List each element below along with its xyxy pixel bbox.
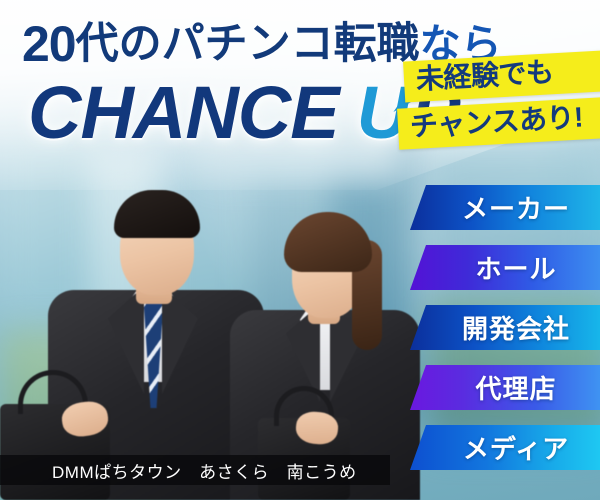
category-label: 開発会社: [462, 309, 570, 346]
category-label: 代理店: [475, 369, 556, 406]
category-button-maker[interactable]: メーカー: [410, 185, 600, 230]
badge-line-2: チャンスあり!: [397, 97, 600, 149]
category-button-agency[interactable]: 代理店: [410, 365, 600, 410]
hair: [114, 190, 200, 238]
category-button-media[interactable]: メディア: [410, 425, 600, 470]
badge-line-1-text: 未経験でも: [415, 56, 594, 94]
people-photo: [0, 155, 430, 500]
chance-up-logo: CHANCE U P: [28, 72, 459, 154]
category-label: メーカー: [462, 189, 570, 226]
category-label: メディア: [463, 429, 569, 466]
caption-band: DMMぱちタウン あさくら 南こうめ: [0, 455, 390, 485]
hair: [284, 212, 372, 272]
ad-banner[interactable]: 20 代のパチンコ転職 なら CHANCE U P 未経験でも チャンスあり! …: [0, 0, 600, 500]
logo-word-chance: CHANCE: [28, 76, 339, 150]
headline-main: 代のパチンコ転職: [76, 23, 420, 66]
badge-line-1: 未経験でも: [403, 50, 600, 102]
yellow-badge: 未経験でも チャンスあり!: [404, 56, 600, 149]
badge-line-2-text: チャンスあり!: [409, 102, 594, 141]
caption-text: DMMぱちタウン あさくら 南こうめ: [52, 458, 357, 483]
category-menu: メーカー ホール 開発会社 代理店 メディア: [410, 185, 600, 485]
category-button-hall[interactable]: ホール: [410, 245, 600, 290]
headline-number: 20: [22, 19, 76, 69]
category-label: ホール: [475, 249, 556, 286]
category-button-development-company[interactable]: 開発会社: [410, 305, 600, 350]
